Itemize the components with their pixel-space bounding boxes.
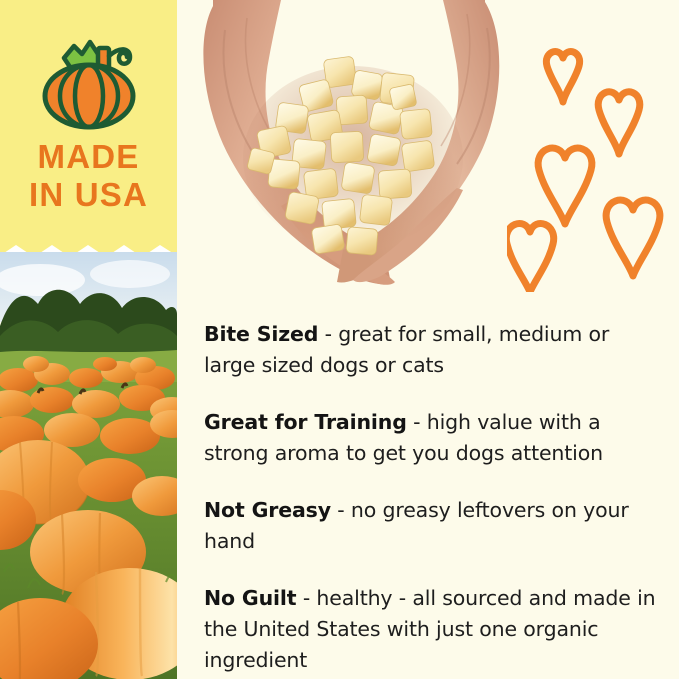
feature-item-no-guilt: No Guilt - healthy - all sourced and mad… <box>204 583 662 676</box>
feature-title: Bite Sized <box>204 322 318 346</box>
feature-title: No Guilt <box>204 586 296 610</box>
feature-title: Not Greasy <box>204 498 331 522</box>
feature-item-not-greasy: Not Greasy - no greasy leftovers on your… <box>204 495 662 557</box>
feature-item-bite-sized: Bite Sized - great for small, medium or … <box>204 319 662 381</box>
feature-title: Great for Training <box>204 410 407 434</box>
main-content-area: Bite Sized - great for small, medium or … <box>177 0 679 679</box>
badge-line-2: IN USA <box>0 176 177 214</box>
left-column: MADE IN USA <box>0 0 177 679</box>
made-in-usa-badge: MADE IN USA <box>0 0 177 266</box>
feature-list: Bite Sized - great for small, medium or … <box>204 298 662 676</box>
product-feature-infographic: MADE IN USA <box>0 0 679 679</box>
badge-line-1: MADE <box>0 138 177 176</box>
badge-text: MADE IN USA <box>0 138 177 214</box>
pumpkin-icon <box>34 24 144 132</box>
heart-icon-2 <box>598 92 640 154</box>
feature-item-great-for-training: Great for Training - high value with a s… <box>204 407 662 469</box>
heart-icon-4 <box>606 200 660 276</box>
hands-holding-treats-photo <box>185 0 585 290</box>
pumpkin-patch-photo <box>0 252 177 679</box>
